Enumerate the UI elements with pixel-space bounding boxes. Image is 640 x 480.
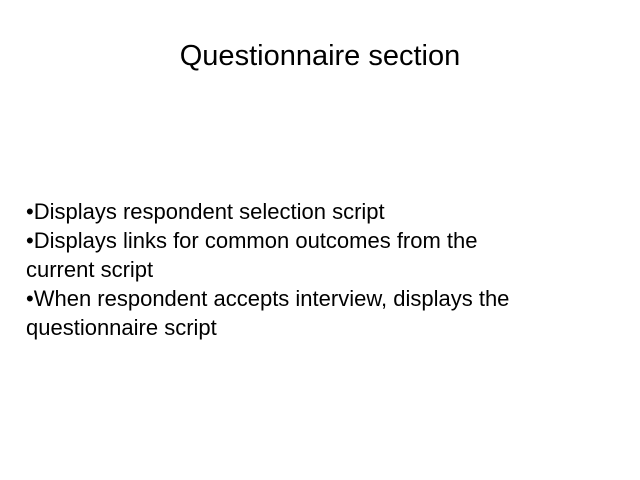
slide-body-text: •Displays respondent selection script •D… [26,197,626,342]
list-item-label: Displays respondent selection script [34,199,385,224]
list-item: •When respondent accepts interview, disp… [26,284,626,313]
list-item-wrapped-line: questionnaire script [26,313,626,342]
list-item-label: When respondent accepts interview, displ… [34,286,510,311]
list-item: •Displays respondent selection script [26,197,626,226]
list-item-label: Displays links for common outcomes from … [34,228,478,253]
list-item-wrapped-line: current script [26,255,626,284]
slide-canvas: Questionnaire section •Displays responde… [0,0,640,480]
list-item: •Displays links for common outcomes from… [26,226,626,255]
bullet-icon: • [26,199,34,224]
bullet-icon: • [26,228,34,253]
page-title: Questionnaire section [0,38,640,74]
bullet-icon: • [26,286,34,311]
